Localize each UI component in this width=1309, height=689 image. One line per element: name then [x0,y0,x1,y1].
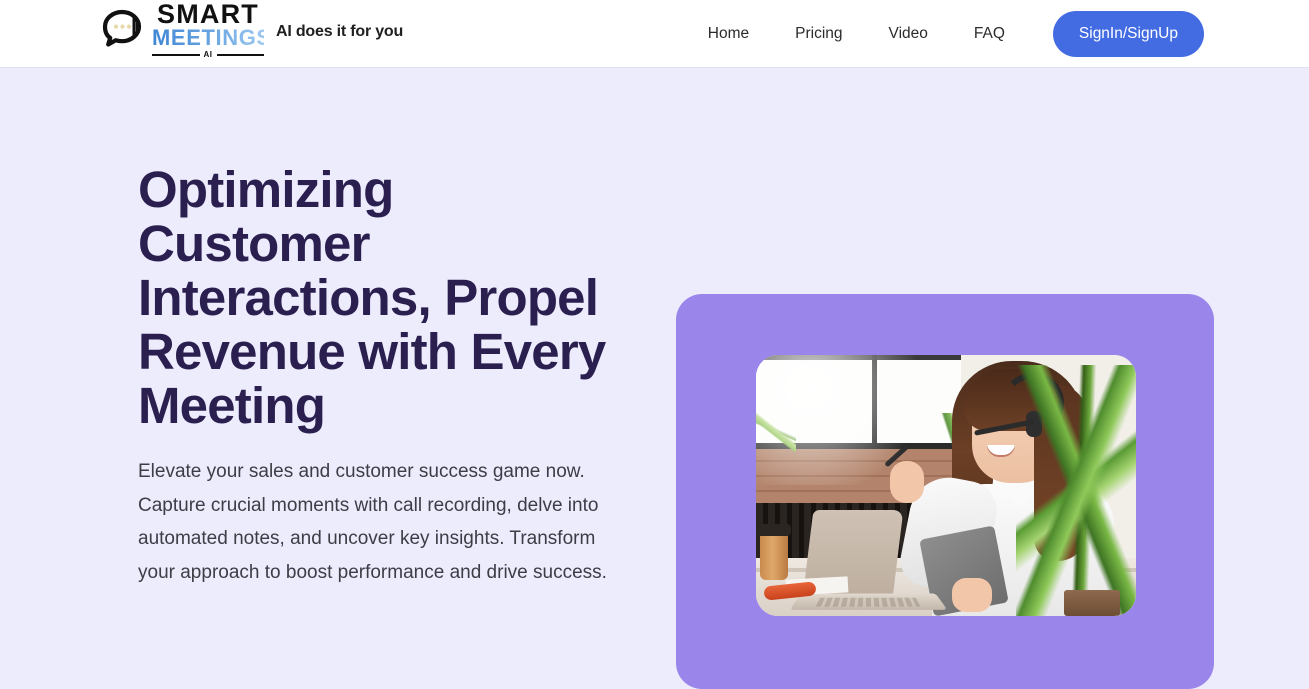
nav-item-pricing[interactable]: Pricing [772,25,865,43]
photo-plant-pot [1064,590,1120,616]
photo-person-hand [890,461,924,503]
photo-plant-left [756,399,796,461]
logo-ai-row: AI [152,50,264,59]
logo-wordmark: SMART MEETINGS AI [152,2,264,59]
speech-bubble-headset-icon [92,3,148,59]
brand-logo[interactable]: SMART MEETINGS AI AI does it for you [92,2,403,59]
photo-plant-right [1016,365,1136,616]
brand-tagline: AI does it for you [276,23,403,41]
hero-photo-frame [756,355,1136,616]
photo-laptop-keyboard [816,598,921,607]
logo-word-ai: AI [204,50,213,59]
hero-photo-customer-support-agent [756,355,1136,616]
hero-section: Optimizing Customer Interactions, Propel… [0,69,1309,582]
photo-coffee-cup [760,532,788,580]
hero-title: Optimizing Customer Interactions, Propel… [138,163,628,433]
logo-rule-left [152,54,200,56]
logo-word-meetings: MEETINGS [152,27,264,48]
nav-item-home[interactable]: Home [685,25,772,43]
logo-rule-right [217,54,265,56]
logo-word-smart: SMART [152,2,264,27]
nav-item-faq[interactable]: FAQ [951,25,1028,43]
hero-subtitle: Elevate your sales and customer success … [138,455,618,589]
photo-person-hand-lower [952,578,992,612]
signin-signup-button[interactable]: SignIn/SignUp [1053,11,1204,57]
photo-window-frame-top [756,355,961,360]
main-navigation: Home Pricing Video FAQ SignIn/SignUp [685,0,1204,68]
site-header: SMART MEETINGS AI AI does it for you Hom… [0,0,1309,68]
photo-coffee-cup-lid [757,524,791,536]
hero-copy: Optimizing Customer Interactions, Propel… [138,163,638,589]
photo-window-mullion [872,355,877,447]
nav-item-video[interactable]: Video [866,25,951,43]
hero-media-card [676,294,1214,689]
